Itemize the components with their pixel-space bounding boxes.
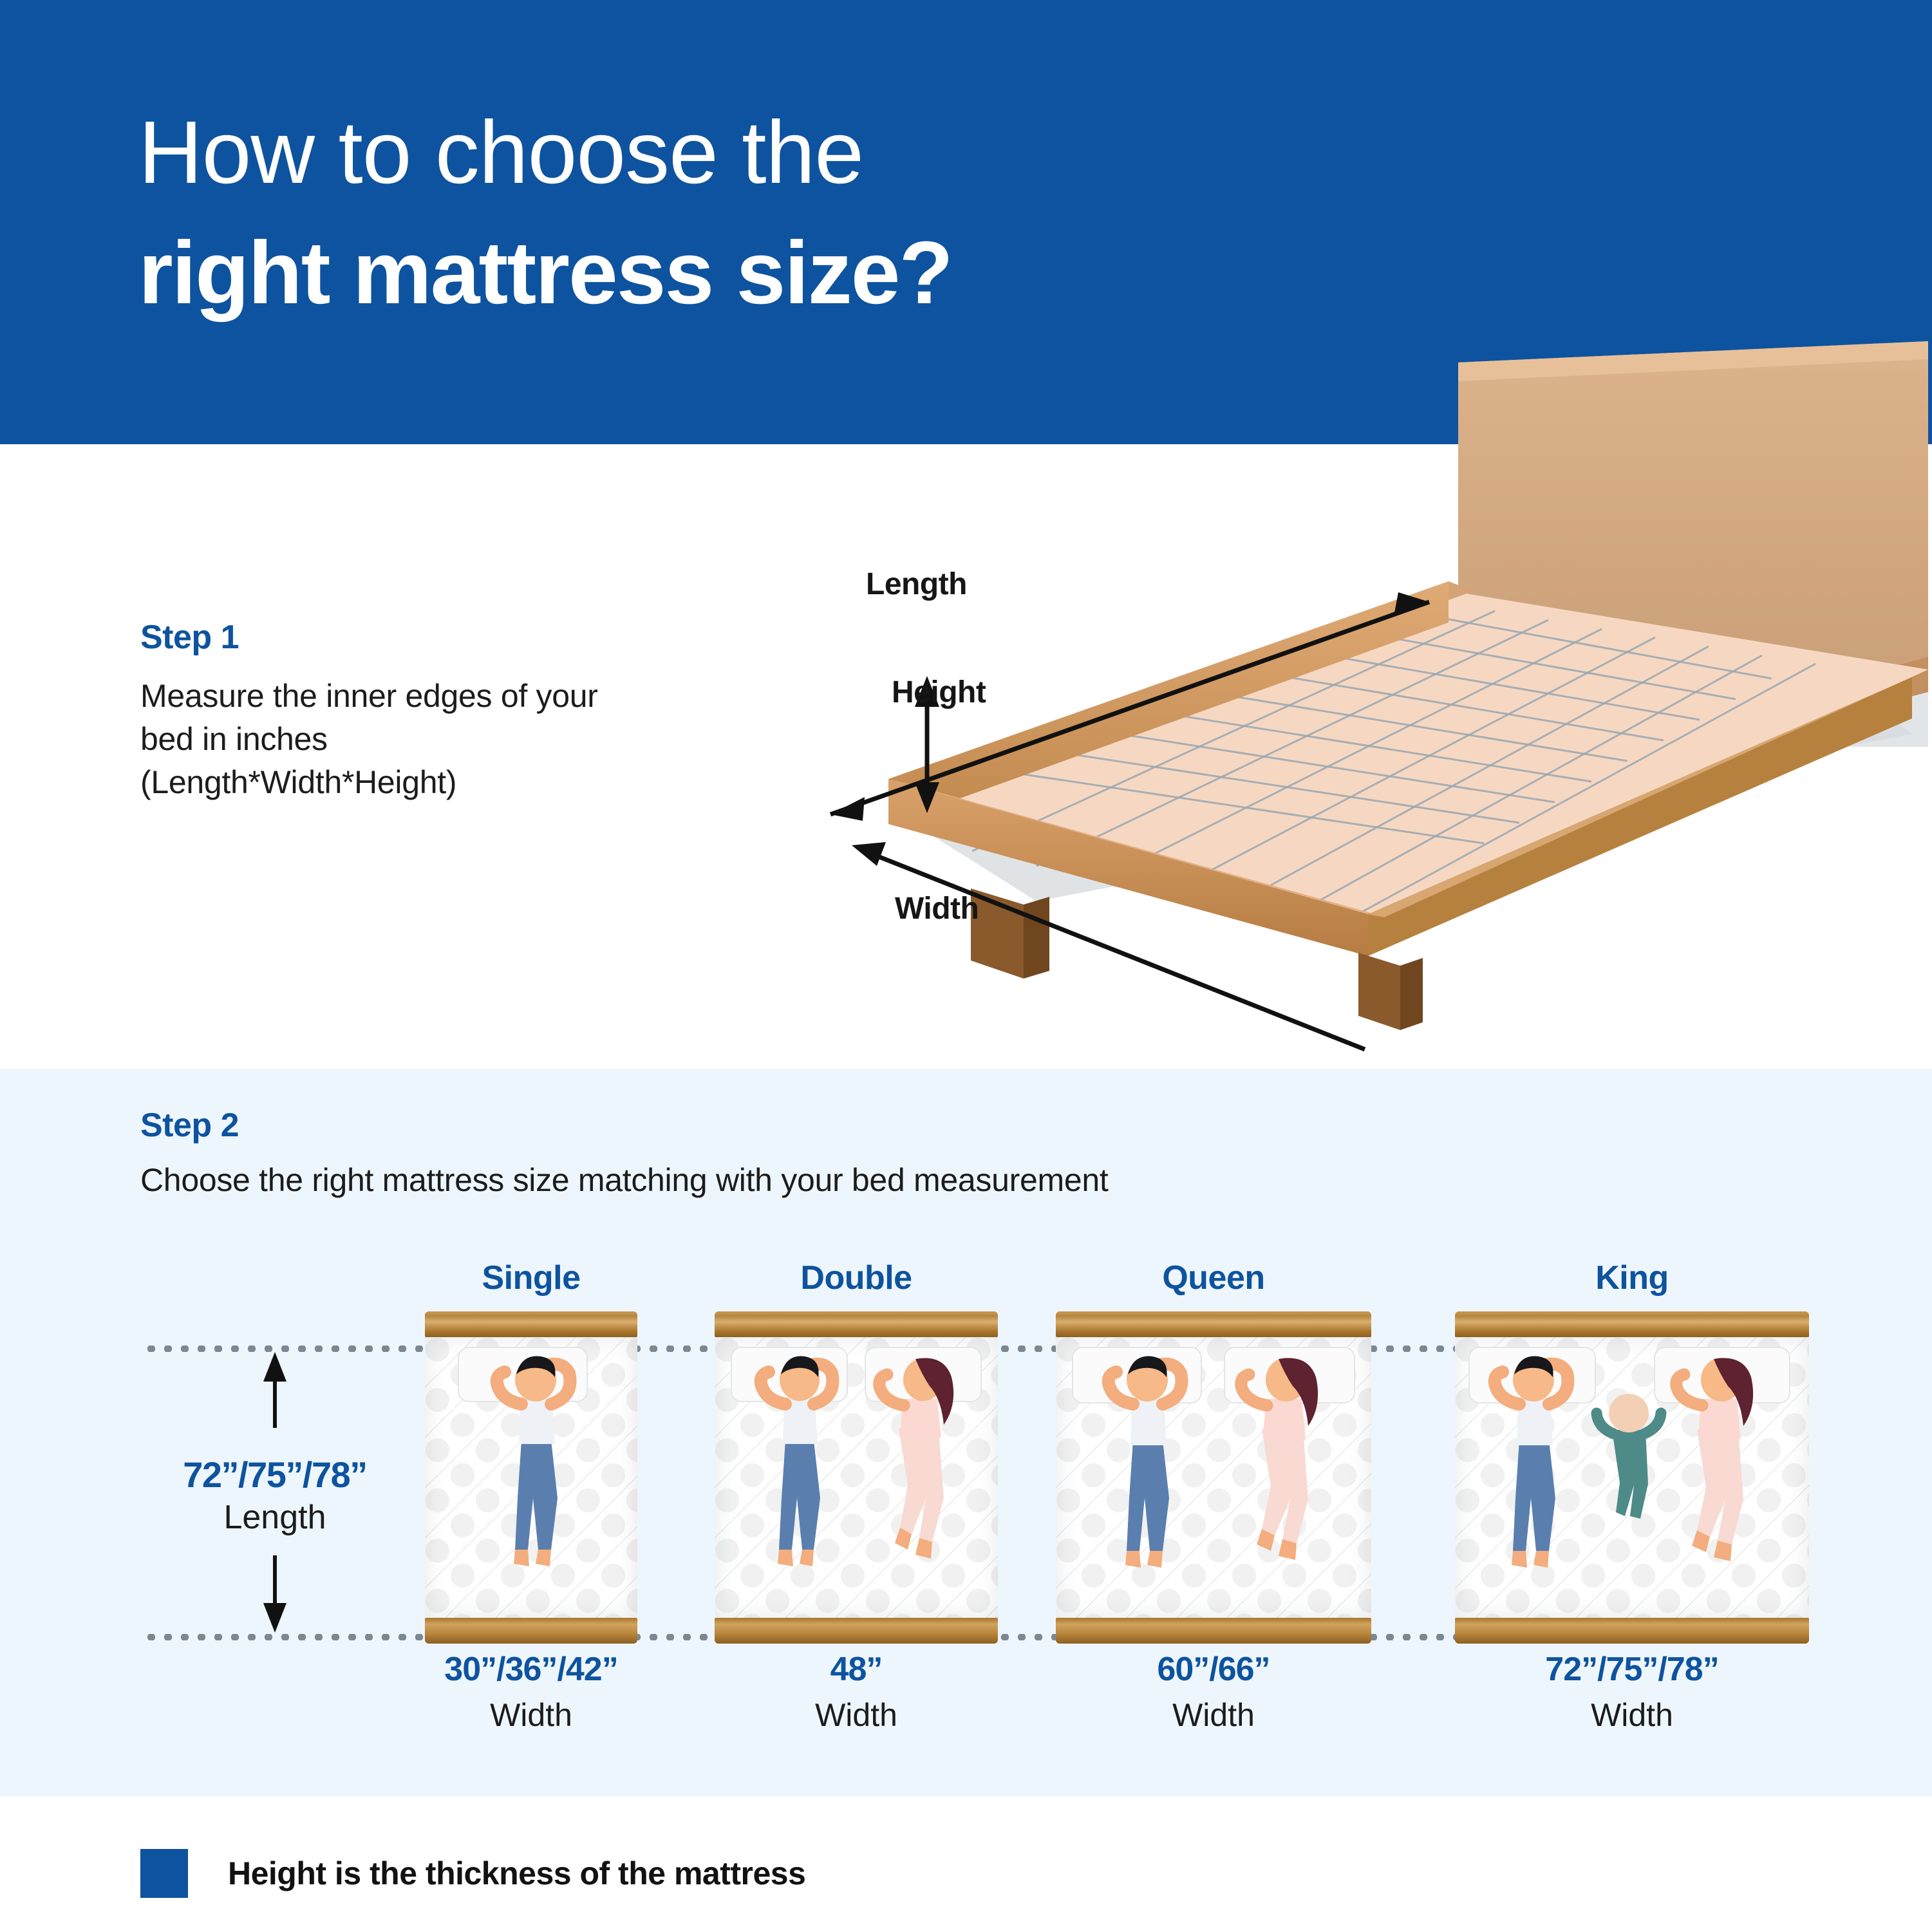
mattress-surface-queen	[1056, 1337, 1371, 1618]
size-name-king: King	[1455, 1259, 1809, 1297]
size-column-single[interactable]: Single	[425, 1259, 637, 1683]
size-dims-double: 48” Width	[715, 1650, 998, 1734]
mattress-surface-double	[715, 1337, 998, 1618]
footboard-bar-queen	[1056, 1618, 1371, 1644]
size-width-label-king: Width	[1455, 1696, 1809, 1734]
length-axis-label: 72”/75”/78” Length	[124, 1454, 426, 1537]
size-width-dim-double: 48”	[715, 1650, 998, 1689]
length-axis-dimension: 72”/75”/78”	[124, 1454, 426, 1496]
size-column-queen[interactable]: Queen	[1056, 1259, 1371, 1683]
headboard-bar-single	[425, 1311, 637, 1337]
size-name-single: Single	[425, 1259, 637, 1297]
page-title-line2: right mattress size?	[138, 227, 952, 320]
step1-block: Step 1 Measure the inner edges of your b…	[140, 618, 642, 804]
infographic-page: How to choose the right mattress size? S…	[0, 0, 1932, 1932]
legend-text: Height is the thickness of the mattress	[228, 1855, 805, 1892]
size-dims-single: 30”/36”/42” Width	[425, 1650, 637, 1734]
mattress-double	[715, 1311, 998, 1644]
mattress-single	[425, 1311, 637, 1644]
bed-height-label: Height	[892, 675, 986, 710]
size-width-label-single: Width	[425, 1696, 637, 1734]
footboard-bar-single	[425, 1618, 637, 1644]
headboard-bar-queen	[1056, 1311, 1371, 1337]
length-axis-word: Length	[124, 1498, 426, 1537]
size-dims-king: 72”/75”/78” Width	[1455, 1650, 1809, 1734]
step2-block: Step 2 Choose the right mattress size ma…	[140, 1106, 1685, 1199]
bed-length-label: Length	[866, 567, 967, 602]
mattress-queen	[1056, 1311, 1371, 1644]
size-width-label-queen: Width	[1056, 1696, 1371, 1734]
size-name-queen: Queen	[1056, 1259, 1371, 1297]
headboard-bar-king	[1455, 1311, 1809, 1337]
size-name-double: Double	[715, 1259, 998, 1297]
mattress-surface-king	[1455, 1337, 1809, 1618]
footboard-bar-king	[1455, 1618, 1809, 1644]
step1-label: Step 1	[140, 618, 642, 657]
step2-label: Step 2	[140, 1106, 1685, 1145]
size-width-dim-king: 72”/75”/78”	[1455, 1650, 1809, 1689]
step1-description: Measure the inner edges of your bed in i…	[140, 675, 642, 804]
size-width-label-double: Width	[715, 1696, 998, 1734]
legend-row: Height is the thickness of the mattress	[140, 1849, 805, 1898]
size-width-dim-queen: 60”/66”	[1056, 1650, 1371, 1689]
size-column-double[interactable]: Double	[715, 1259, 998, 1683]
headboard-bar-double	[715, 1311, 998, 1337]
size-column-king[interactable]: King	[1455, 1259, 1809, 1683]
step2-description: Choose the right mattress size matching …	[140, 1161, 1685, 1199]
footboard-bar-double	[715, 1618, 998, 1644]
size-width-dim-single: 30”/36”/42”	[425, 1650, 637, 1689]
page-title-line1: How to choose the	[138, 106, 863, 200]
mattress-surface-single	[425, 1337, 637, 1618]
mattress-king	[1455, 1311, 1809, 1644]
size-dims-queen: 60”/66” Width	[1056, 1650, 1371, 1734]
bed-illustration	[702, 335, 1931, 1056]
bed-width-label: Width	[895, 891, 979, 926]
legend-color-swatch	[140, 1849, 188, 1898]
